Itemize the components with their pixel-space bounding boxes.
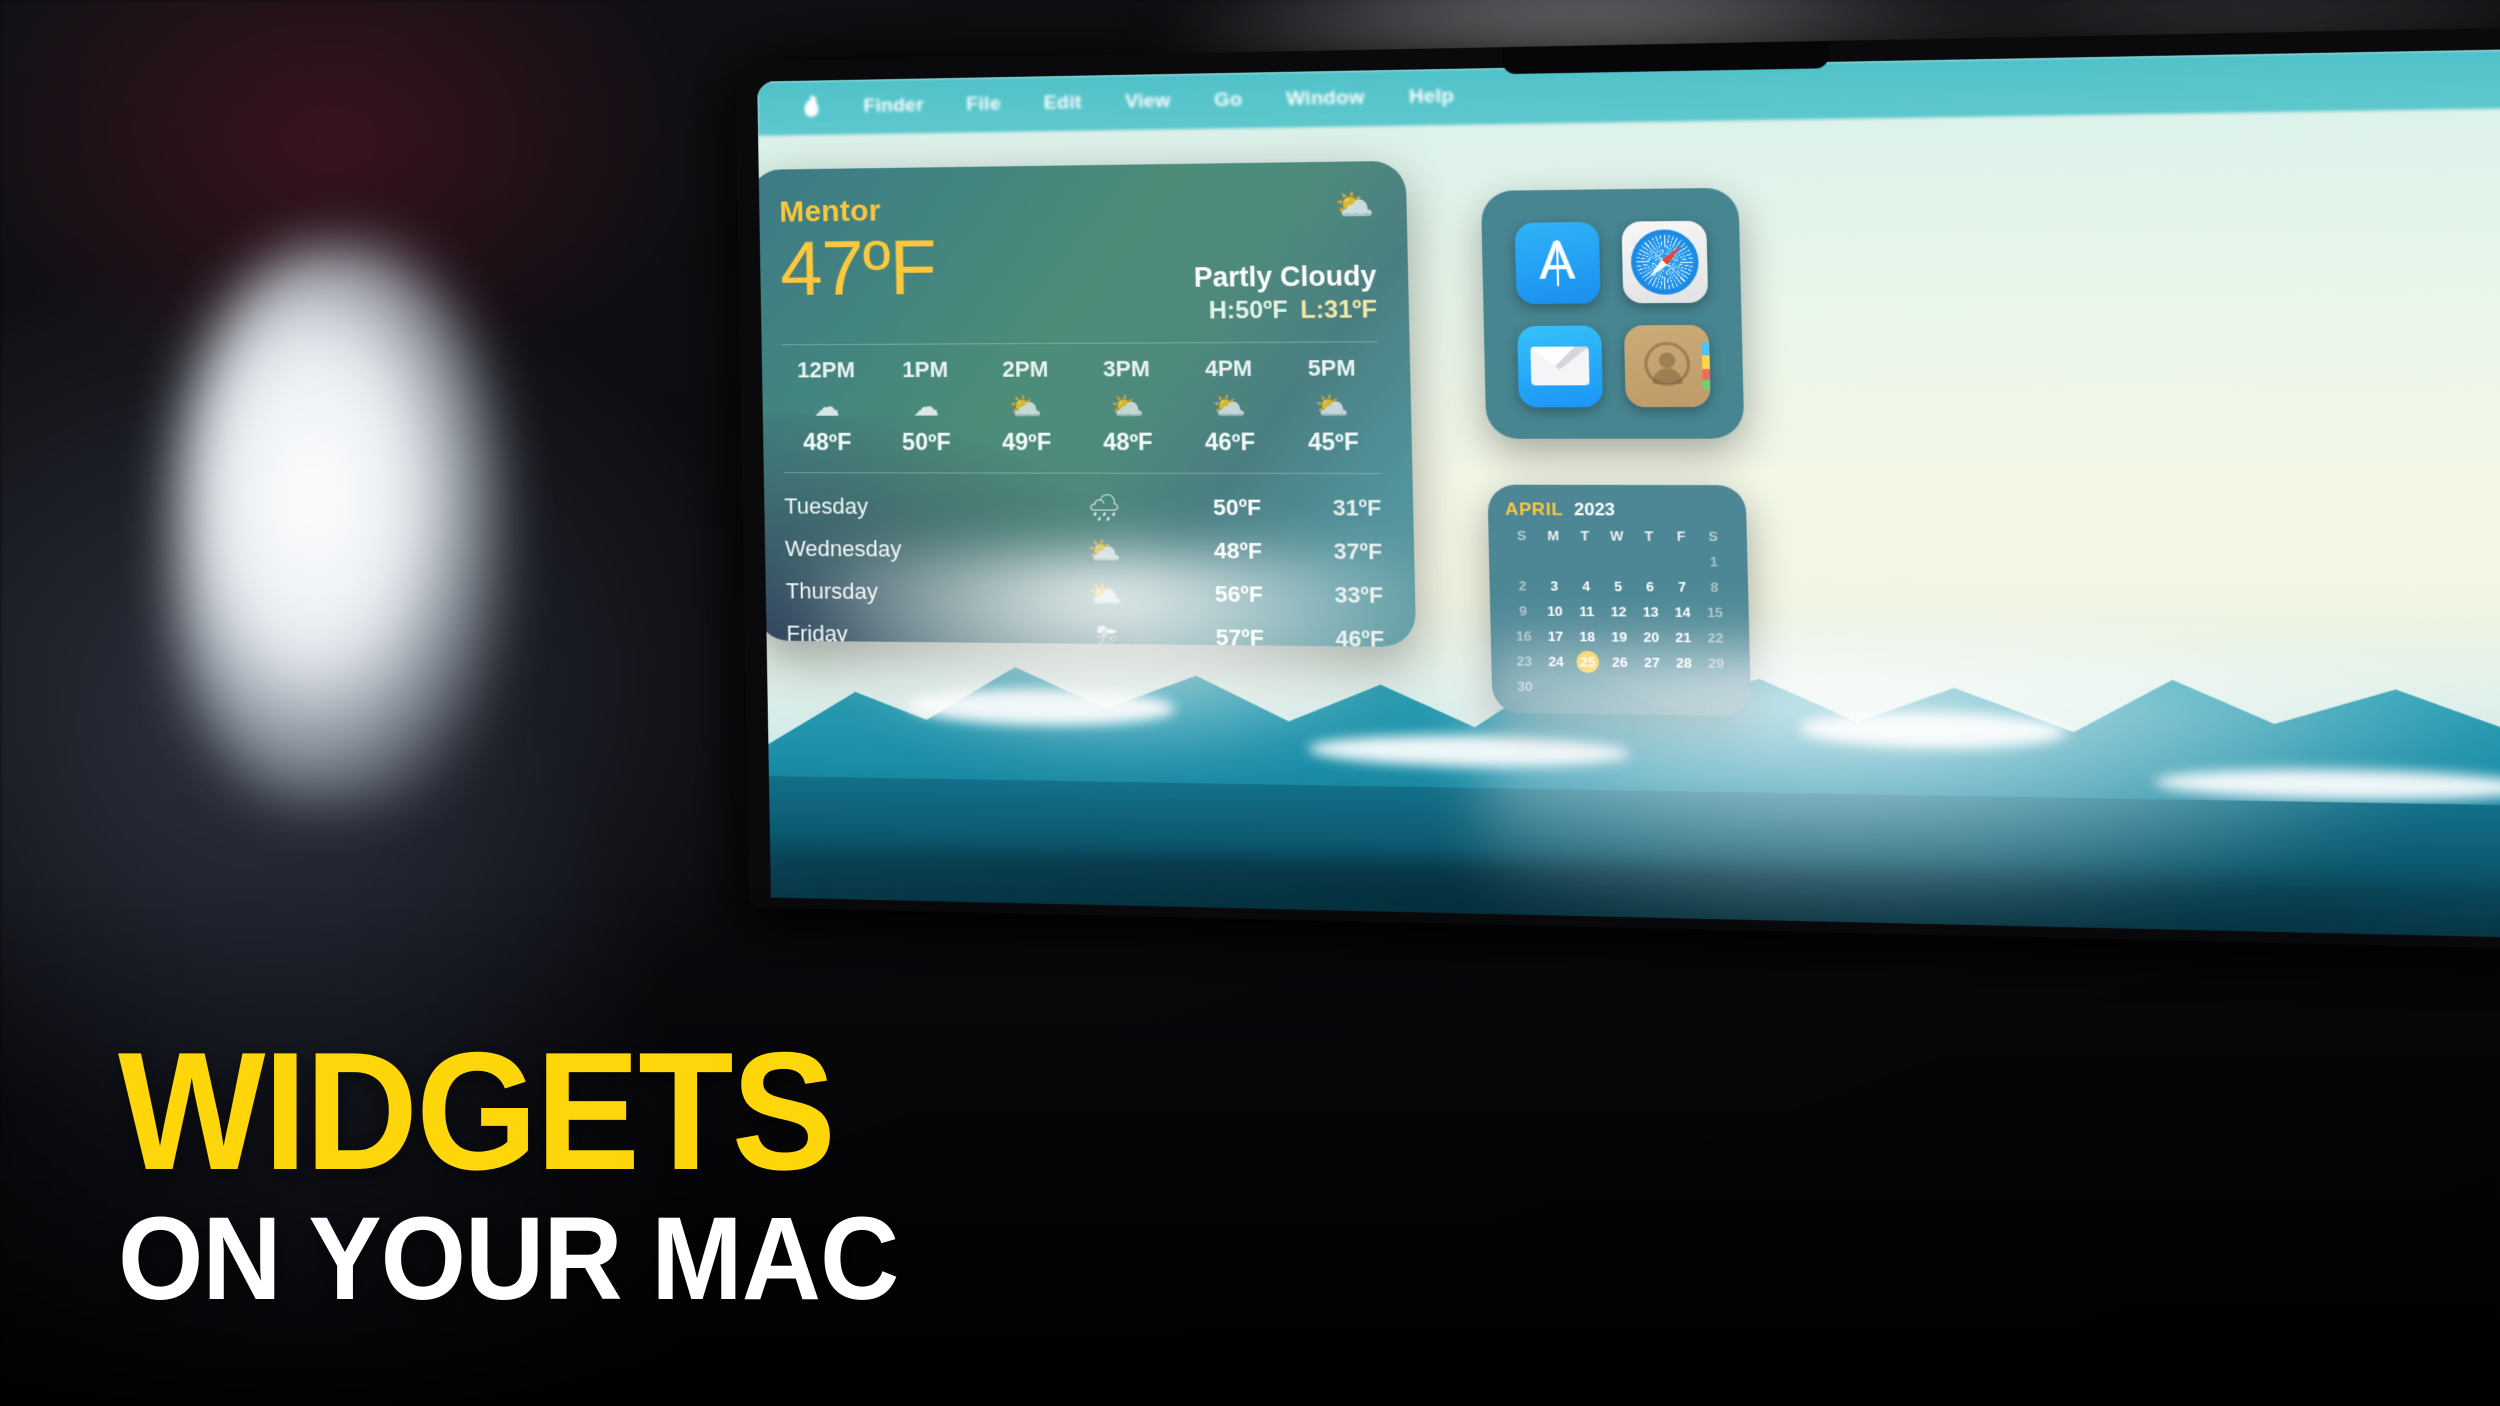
calendar-day[interactable]: 3 xyxy=(1538,575,1570,597)
hourly-item: 5PM ⛅ 45ºF xyxy=(1289,355,1376,457)
calendar-day xyxy=(1636,677,1669,700)
contacts-tabs xyxy=(1701,341,1710,389)
calendar-day[interactable]: 4 xyxy=(1570,575,1602,597)
day-name: Tuesday xyxy=(784,493,1037,520)
background-light-blob xyxy=(175,245,505,805)
envelope-glyph xyxy=(1530,347,1589,386)
calendar-grid[interactable]: S M T W T F S xyxy=(1506,528,1734,700)
calendar-day[interactable]: 20 xyxy=(1635,626,1668,648)
day-low: 33ºF xyxy=(1277,581,1383,609)
hour-time: 2PM xyxy=(984,356,1066,383)
hourly-item: 2PM ⛅ 49ºF xyxy=(984,356,1068,456)
calendar-dow-wed: W xyxy=(1601,528,1633,547)
hour-time: 4PM xyxy=(1187,355,1271,382)
cloudy-icon: ☁ xyxy=(885,391,967,423)
calendar-day[interactable]: 23 xyxy=(1508,650,1540,672)
daily-forecast: Tuesday 🌧 50ºF 31ºF Wednesday ⛅ 48ºF 37 xyxy=(784,485,1385,647)
calendar-day xyxy=(1538,550,1570,572)
cloudy-icon: ☁ xyxy=(786,391,867,422)
hour-time: 1PM xyxy=(884,357,965,384)
calendar-widget[interactable]: APRIL 2023 S M T W T F S xyxy=(1487,485,1751,716)
macbook-device: Finder File Edit View Go Window Help xyxy=(735,24,2500,953)
weather-low: L:31ºF xyxy=(1300,296,1377,324)
calendar-day[interactable]: 2 xyxy=(1507,575,1539,597)
calendar-day[interactable]: 28 xyxy=(1668,652,1701,675)
calendar-day xyxy=(1506,550,1538,572)
daily-row: Wednesday ⛅ 48ºF 37ºF xyxy=(785,528,1383,574)
weather-temperature: 47ºF xyxy=(780,232,937,307)
partly-cloudy-icon: ⛅ xyxy=(1038,534,1173,566)
hourly-item: 1PM ☁ 50ºF xyxy=(884,357,967,457)
laptop-bezel: Finder File Edit View Go Window Help xyxy=(735,24,2500,953)
daily-row: Friday ⛈ 57ºF 46ºF xyxy=(786,612,1385,647)
calendar-day[interactable]: 10 xyxy=(1539,600,1571,622)
hour-time: 3PM xyxy=(1085,356,1168,383)
calendar-day[interactable]: 29 xyxy=(1700,652,1733,675)
calendar-day[interactable]: 1 xyxy=(1697,550,1730,572)
thunderstorm-icon: ⛈ xyxy=(1039,620,1174,647)
day-high: 56ºF xyxy=(1173,581,1278,609)
partly-cloudy-icon: ⛅ xyxy=(1086,391,1169,423)
mail-icon[interactable] xyxy=(1517,325,1603,407)
calendar-header: APRIL 2023 xyxy=(1505,499,1729,521)
calendar-day xyxy=(1601,550,1633,572)
partly-cloudy-icon: ⛅ xyxy=(1187,390,1271,422)
calendar-day[interactable]: 17 xyxy=(1539,625,1571,647)
calendar-day[interactable]: 6 xyxy=(1634,575,1667,597)
calendar-day[interactable]: 30 xyxy=(1509,675,1541,697)
day-name: Thursday xyxy=(786,578,1040,606)
app-store-glyph: 𝖠 xyxy=(1514,221,1600,303)
hour-temp: 46ºF xyxy=(1188,428,1272,456)
calendar-day[interactable]: 8 xyxy=(1698,576,1731,598)
rain-icon: 🌧 xyxy=(1037,491,1172,523)
weather-widget[interactable]: Mentor 47ºF ⛅ Partly Cloudy H:50ºFL:31ºF xyxy=(757,161,1416,647)
hourly-item: 12PM ☁ 48ºF xyxy=(786,357,868,456)
calendar-day xyxy=(1572,676,1604,698)
daily-row: Tuesday 🌧 50ºF 31ºF xyxy=(784,485,1382,530)
safari-compass-dial xyxy=(1630,229,1699,295)
widgets-layer: Mentor 47ºF ⛅ Partly Cloudy H:50ºFL:31ºF xyxy=(757,47,2500,942)
hourly-forecast: 12PM ☁ 48ºF 1PM ☁ 50ºF 2 xyxy=(782,355,1380,457)
hour-temp: 50ºF xyxy=(886,429,968,456)
calendar-day xyxy=(1569,550,1601,572)
calendar-day xyxy=(1633,550,1666,572)
divider xyxy=(782,341,1378,345)
day-name: Wednesday xyxy=(785,536,1039,564)
calendar-dow-sat: S xyxy=(1697,528,1730,547)
weather-high: H:50ºF xyxy=(1209,296,1288,324)
hour-temp: 49ºF xyxy=(986,429,1068,457)
calendar-day[interactable]: 9 xyxy=(1507,600,1539,622)
calendar-day[interactable]: 13 xyxy=(1634,601,1667,623)
divider xyxy=(784,472,1381,474)
calendar-day[interactable]: 24 xyxy=(1540,650,1572,672)
partly-cloudy-icon: ⛅ xyxy=(1039,577,1174,610)
calendar-day xyxy=(1700,677,1733,700)
safari-icon[interactable] xyxy=(1621,220,1708,303)
laptop-screen: Finder File Edit View Go Window Help xyxy=(757,47,2500,942)
calendar-dow-thu: T xyxy=(1633,528,1665,547)
day-high: 50ºF xyxy=(1171,494,1276,521)
day-low: 31ºF xyxy=(1276,495,1382,522)
contacts-icon[interactable] xyxy=(1623,324,1710,406)
calendar-day[interactable]: 18 xyxy=(1571,625,1603,647)
calendar-day[interactable]: 16 xyxy=(1508,625,1540,647)
partly-cloudy-icon: ⛅ xyxy=(985,391,1067,423)
calendar-day-today[interactable]: 25 xyxy=(1572,651,1604,673)
day-low: 37ºF xyxy=(1276,538,1382,566)
calendar-day xyxy=(1541,676,1573,698)
hourly-item: 4PM ⛅ 46ºF xyxy=(1187,355,1273,456)
title-line-2: ON YOUR MAC xyxy=(118,1205,898,1314)
today-label: 25 xyxy=(1576,651,1599,673)
hour-temp: 48ºF xyxy=(1086,429,1169,457)
calendar-month: APRIL xyxy=(1505,499,1564,520)
calendar-day[interactable]: 26 xyxy=(1604,651,1636,673)
calendar-dow-fri: F xyxy=(1665,528,1698,547)
calendar-year: 2023 xyxy=(1574,500,1615,521)
calendar-day[interactable]: 7 xyxy=(1666,576,1699,598)
calendar-dow-mon: M xyxy=(1537,528,1569,547)
background-scene: Finder File Edit View Go Window Help xyxy=(0,0,2500,1406)
safari-compass-needle xyxy=(1645,243,1684,281)
calendar-day[interactable]: 14 xyxy=(1666,601,1699,623)
hour-time: 5PM xyxy=(1289,355,1374,382)
app-shortcuts-widget[interactable]: 𝖠 xyxy=(1481,188,1745,439)
day-high: 48ºF xyxy=(1172,538,1277,565)
calendar-day[interactable]: 27 xyxy=(1636,651,1669,673)
partly-cloudy-icon: ⛅ xyxy=(1290,390,1375,422)
calendar-day[interactable]: 19 xyxy=(1603,626,1635,648)
hour-temp: 48ºF xyxy=(787,429,868,456)
calendar-dow-sun: S xyxy=(1506,528,1538,547)
calendar-day xyxy=(1665,550,1698,572)
partly-cloudy-icon: ⛅ xyxy=(1192,190,1375,223)
person-glyph xyxy=(1643,342,1690,386)
calendar-day[interactable]: 12 xyxy=(1602,600,1634,622)
calendar-day[interactable]: 21 xyxy=(1667,626,1700,648)
calendar-day xyxy=(1604,676,1636,699)
calendar-day[interactable]: 11 xyxy=(1571,600,1603,622)
hour-temp: 45ºF xyxy=(1291,428,1376,456)
day-low: 46ºF xyxy=(1278,625,1384,647)
calendar-dow-tue: T xyxy=(1569,528,1601,547)
title-line-1: WIDGETS xyxy=(118,1038,898,1186)
weather-high-low: H:50ºFL:31ºF xyxy=(1194,296,1377,326)
calendar-day[interactable]: 5 xyxy=(1602,575,1634,597)
day-name: Friday xyxy=(786,621,1040,647)
title-overlay: WIDGETS ON YOUR MAC xyxy=(118,1038,957,1314)
calendar-day[interactable]: 22 xyxy=(1699,627,1732,650)
weather-condition: Partly Cloudy xyxy=(1193,260,1376,293)
app-store-icon[interactable]: 𝖠 xyxy=(1514,221,1600,303)
day-high: 57ºF xyxy=(1174,624,1279,647)
calendar-day xyxy=(1668,677,1701,700)
hourly-item: 3PM ⛅ 48ºF xyxy=(1085,356,1170,457)
daily-row: Thursday ⛅ 56ºF 33ºF xyxy=(785,570,1383,617)
laptop-notch xyxy=(1502,41,1829,74)
hour-time: 12PM xyxy=(786,357,867,384)
calendar-day[interactable]: 15 xyxy=(1699,601,1732,623)
